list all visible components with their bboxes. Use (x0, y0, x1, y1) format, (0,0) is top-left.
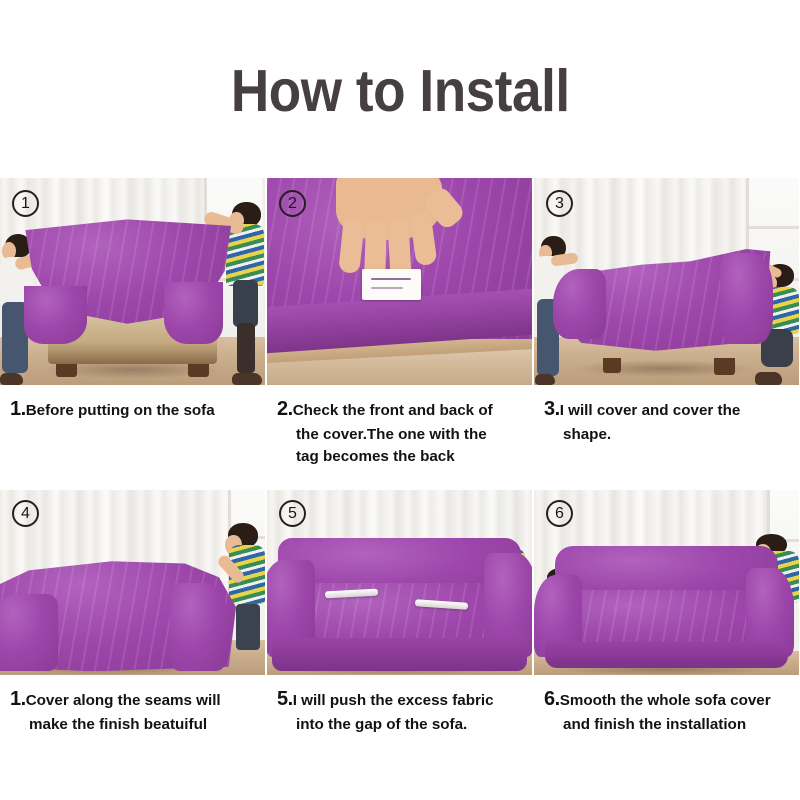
step-text-line: Smooth the whole sofa cover (560, 692, 771, 709)
person-shoe (535, 374, 555, 385)
step-photo-5: 5 (267, 490, 532, 675)
step-photo-1: 1 (0, 178, 265, 385)
scene-3 (534, 178, 799, 385)
step-text-line: I will cover and cover the (560, 402, 741, 419)
step-card-2: 2 2.Check the front and back of the cove… (267, 178, 533, 468)
sofa-cover-arm (553, 269, 606, 339)
step-number: 3. (544, 398, 560, 420)
step-photo-3: 3 (534, 178, 799, 385)
step-caption-5: 5.I will push the excess fabric into the… (267, 675, 533, 736)
sofa-cover-arm (720, 253, 773, 344)
step-badge: 2 (279, 190, 306, 217)
step-caption-4: 1.Cover along the seams will make the fi… (0, 675, 266, 736)
tag-text-line (371, 278, 412, 280)
step-text-line: shape. (544, 424, 796, 446)
step-badge: 4 (12, 500, 39, 527)
page-title-wrap: How to Install (0, 62, 800, 121)
step-number: 5. (277, 688, 293, 710)
step-card-4: 4 1.Cover along the seams will make the … (0, 490, 266, 736)
scene-6 (534, 490, 799, 675)
step-text-line: Check the front and back of (293, 402, 493, 419)
care-tag (362, 269, 420, 300)
sofa-leg (603, 358, 622, 372)
step-photo-4: 4 (0, 490, 265, 675)
person-arm (550, 252, 578, 267)
steps-grid: 1 1.Before putting on the sofa (0, 178, 800, 736)
step-text-line: into the gap of the sofa. (277, 714, 529, 736)
step-badge: 3 (546, 190, 573, 217)
steps-row-2: 4 1.Cover along the seams will make the … (0, 490, 800, 736)
sofa-leg (714, 358, 735, 375)
person-leg (236, 604, 259, 651)
person-leg (233, 280, 258, 327)
steps-row-1: 1 1.Before putting on the sofa (0, 178, 800, 468)
step-photo-2: 2 (267, 178, 532, 385)
how-to-install-infographic: How to Install (0, 0, 800, 800)
step-number: 2. (277, 398, 293, 420)
sofa-cover-drop (24, 286, 88, 344)
step-text-line: tag becomes the back (277, 446, 529, 468)
step-photo-6: 6 (534, 490, 799, 675)
step-caption-1: 1.Before putting on the sofa (0, 385, 266, 424)
scene-5 (267, 490, 532, 675)
step-number: 1. (10, 688, 26, 710)
tag-text-line (371, 287, 404, 289)
step-text-line: Before putting on the sofa (26, 402, 215, 419)
step-badge: 1 (12, 190, 39, 217)
scene-4 (0, 490, 265, 675)
sofa-cover-skirt (272, 638, 526, 671)
step-number: 6. (544, 688, 560, 710)
step-text-line: I will push the excess fabric (293, 692, 494, 709)
person-shoe (755, 372, 783, 385)
step-card-3: 3 3.I will cover and cover the shape. (534, 178, 800, 468)
step-caption-3: 3.I will cover and cover the shape. (534, 385, 800, 446)
page-title: How to Install (231, 62, 570, 121)
scene-2 (267, 178, 532, 385)
sofa-cover-skirt (545, 642, 789, 668)
sofa-cover-arm-left (0, 594, 58, 672)
person-shoe (0, 373, 23, 385)
sofa-cover-arm-right (170, 583, 228, 672)
step-text-line: and finish the installation (544, 714, 796, 736)
step-caption-2: 2.Check the front and back of the cover.… (267, 385, 533, 468)
person-leg (237, 323, 255, 374)
step-card-1: 1 1.Before putting on the sofa (0, 178, 266, 468)
step-badge: 5 (279, 500, 306, 527)
step-text-line: Cover along the seams will (26, 692, 221, 709)
step-badge: 6 (546, 500, 573, 527)
sofa-cover-drop (164, 282, 222, 344)
step-number: 1. (10, 398, 26, 420)
scene-1 (0, 178, 265, 385)
step-text-line: make the finish beatuiful (10, 714, 262, 736)
person-shoe (232, 373, 262, 385)
step-text-line: the cover.The one with the (277, 424, 529, 446)
step-caption-6: 6.Smooth the whole sofa cover and finish… (534, 675, 800, 736)
step-card-5: 5 5.I will push the excess fabric into t… (267, 490, 533, 736)
step-card-6: 6 6.Smooth the whole sofa cover and fini… (534, 490, 800, 736)
